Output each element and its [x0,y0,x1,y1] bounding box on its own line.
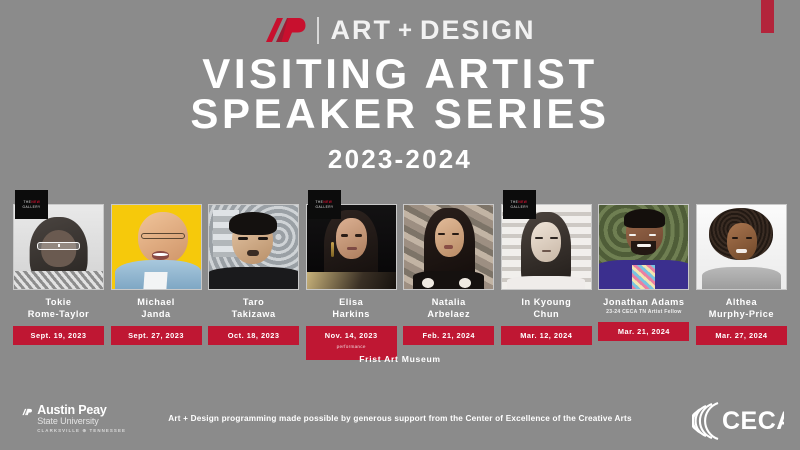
speaker-name-line-2: Chun [521,309,571,321]
title-line-1: VISITING ARTIST [0,54,800,94]
speaker-photo-wrapper [111,190,202,290]
speaker-photo-wrapper: THENEW GALLERY [501,190,592,290]
speaker-photo-wrapper: THENEW GALLERY [306,190,397,290]
apsu-name-line-2: State University [37,416,126,427]
speaker-name: Jonathan Adams [603,297,684,309]
speaker-name-line-2: Janda [137,309,175,321]
new-gallery-badge-icon: THENEW GALLERY [308,190,341,219]
speaker-name: TaroTakizawa [232,297,276,320]
speaker-name-line-1: Althea [709,297,774,309]
speaker-date: Oct. 18, 2023 [228,331,280,340]
logo-word-design: DESIGN [420,17,536,44]
speaker-photo-wrapper [598,190,689,290]
speaker-photo [696,204,787,290]
ceca-wordmark: CECA [722,407,784,435]
speaker-name-line-1: Jonathan Adams [603,297,684,309]
speaker-name-line-1: Taro [232,297,276,309]
speaker-list: THENEW GALLERY TokieRome-Taylor Sept. 19… [13,190,787,360]
speaker-date-note: performance [306,342,397,351]
speaker-date-badge[interactable]: Mar. 12, 2024 [501,326,592,345]
speaker-date: Feb. 21, 2024 [422,331,475,340]
logo-word-art: ART [330,17,392,44]
speaker-name-line-1: In Kyoung [521,297,571,309]
speaker-card[interactable]: THENEW GALLERY In KyoungChun Mar. 12, 20… [501,190,592,360]
speaker-date: Mar. 21, 2024 [618,327,670,336]
speaker-name-line-1: Natalia [427,297,470,309]
speaker-photo [403,204,494,290]
speaker-date: Nov. 14, 2023 [325,331,378,340]
speaker-name: AltheaMurphy-Price [709,297,774,320]
speaker-photo [111,204,202,290]
speaker-photo-wrapper: THENEW GALLERY [13,190,104,290]
speaker-name-line-2: Rome-Taylor [28,309,90,321]
speaker-card[interactable]: THENEW GALLERY ElisaHarkins Nov. 14, 202… [306,190,397,360]
speaker-photo-wrapper [208,190,299,290]
logo-divider [317,17,319,44]
speaker-card[interactable]: TaroTakizawa Oct. 18, 2023 [208,190,299,360]
speaker-date-badge[interactable]: Sept. 27, 2023 [111,326,202,345]
title-line-2: SPEAKER SERIES [0,94,800,134]
speaker-name: TokieRome-Taylor [28,297,90,320]
new-gallery-badge-icon: THENEW GALLERY [503,190,536,219]
speaker-card[interactable]: NataliaArbelaez Feb. 21, 2024 [403,190,494,360]
page-title: VISITING ARTIST SPEAKER SERIES 2023-2024 [0,54,800,175]
new-gallery-badge-icon: THENEW GALLERY [15,190,48,219]
speaker-card[interactable]: MichaelJanda Sept. 27, 2023 [111,190,202,360]
speaker-date-badge[interactable]: Feb. 21, 2024 [403,326,494,345]
speaker-name-line-1: Michael [137,297,175,309]
ceca-logo: CECA [692,400,784,442]
apsu-location: CLARKSVILLE ⊕ TENNESSEE [37,427,126,435]
logo-wordmark: ART + DESIGN [330,17,535,44]
apsu-monogram-icon [22,403,32,421]
speaker-card[interactable]: AltheaMurphy-Price Mar. 27, 2024 [696,190,787,360]
speaker-date-badge[interactable]: Mar. 27, 2024 [696,326,787,345]
apsu-name-line-1: Austin Peay [37,404,126,416]
speaker-date: Mar. 12, 2024 [520,331,572,340]
title-year: 2023-2024 [0,143,800,175]
speaker-name: In KyoungChun [521,297,571,320]
speaker-name-line-1: Elisa [332,297,370,309]
logo-plus-icon: + [398,19,414,43]
speaker-photo [208,204,299,290]
austin-peay-logo: Austin Peay State University CLARKSVILLE… [22,403,126,443]
speaker-photo-wrapper [403,190,494,290]
speaker-card[interactable]: Jonathan Adams 23-24 CECA TN Artist Fell… [598,190,689,360]
speaker-card[interactable]: THENEW GALLERY TokieRome-Taylor Sept. 19… [13,190,104,360]
speaker-name: ElisaHarkins [332,297,370,320]
speaker-photo [598,204,689,290]
speaker-name: NataliaArbelaez [427,297,470,320]
speaker-name-line-2: Arbelaez [427,309,470,321]
speaker-date: Sept. 27, 2023 [128,331,184,340]
speaker-name-line-2: Murphy-Price [709,309,774,321]
sponsor-statement: Art + Design programming made possible b… [140,413,660,425]
speaker-date-badge[interactable]: Mar. 21, 2024 [598,322,689,341]
speaker-name-line-2: Harkins [332,309,370,321]
ceca-logo-icon: CECA [692,400,784,442]
speaker-date: Mar. 27, 2024 [715,331,767,340]
speaker-photo-wrapper [696,190,787,290]
speaker-date-badge[interactable]: Sept. 19, 2023 [13,326,104,345]
speaker-date-badge[interactable]: Oct. 18, 2023 [208,326,299,345]
speaker-subtitle: 23-24 CECA TN Artist Fellow [606,309,681,316]
speaker-name-line-1: Tokie [28,297,90,309]
ap-art-design-logo: ART + DESIGN [0,13,800,47]
speaker-name-line-2: Takizawa [232,309,276,321]
ap-monogram-icon [264,16,306,44]
speaker-name: MichaelJanda [137,297,175,320]
venue-label: Frist Art Museum [0,354,800,364]
speaker-date: Sept. 19, 2023 [31,331,87,340]
